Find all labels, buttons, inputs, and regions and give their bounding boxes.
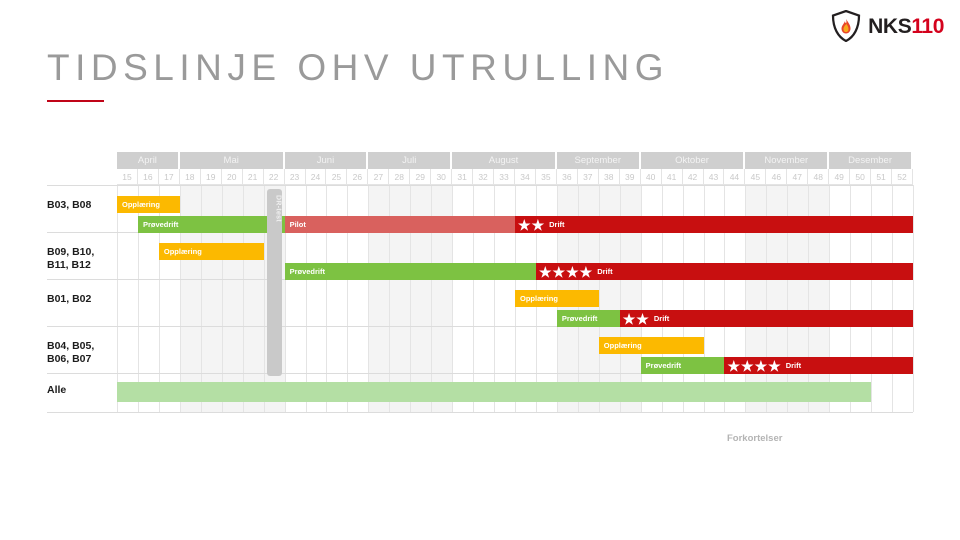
gantt-bar-label: Prøvedrift (641, 361, 681, 370)
gantt-bar-drift[interactable]: ★★Drift (620, 310, 913, 327)
gantt-bar-provedrift[interactable]: Prøvedrift (557, 310, 620, 327)
month-header-november: November (745, 152, 829, 169)
week-number-cell: 19 (201, 169, 222, 185)
row-separator (47, 185, 913, 186)
dr-test-band[interactable]: DR-test (267, 189, 282, 376)
abbreviations-block: Forkortelser (727, 432, 782, 446)
gantt-bar-opplaering[interactable]: Opplæring (599, 337, 704, 354)
week-number-cell: 30 (431, 169, 452, 185)
gantt-bar-drift[interactable]: ★★★★Drift (724, 357, 913, 374)
gantt-bar-label: Drift (781, 361, 801, 370)
gantt-bar-provedrift[interactable]: Prøvedrift (285, 263, 536, 280)
week-number-cell: 16 (138, 169, 159, 185)
row-separator (47, 412, 913, 413)
gantt-bar-label: Opplæring (159, 247, 202, 256)
week-number-cell: 47 (787, 169, 808, 185)
row-label: B09, B10, B11, B12 (47, 246, 94, 272)
week-number-cell: 36 (557, 169, 578, 185)
nks110-logo: NKS110 (831, 10, 944, 42)
week-number-cell: 42 (683, 169, 704, 185)
week-number-cell: 22 (264, 169, 285, 185)
week-number-cell: 21 (243, 169, 264, 185)
month-header-august: August (452, 152, 557, 169)
row-label: B03, B08 (47, 199, 91, 212)
gantt-bar-opplaering[interactable]: Opplæring (515, 290, 599, 307)
week-number-cell: 40 (641, 169, 662, 185)
week-number-cell: 37 (578, 169, 599, 185)
abbreviations-heading: Forkortelser (727, 432, 782, 446)
week-number-cell: 41 (662, 169, 683, 185)
gantt-bar-label: Drift (649, 314, 669, 323)
gantt-bar-provedrift[interactable]: Prøvedrift (641, 357, 725, 374)
gantt-bar-drift[interactable]: ★★★★Drift (536, 263, 913, 280)
gantt-bar-label: Pilot (285, 220, 306, 229)
week-number-cell: 46 (766, 169, 787, 185)
week-number-cell: 52 (892, 169, 913, 185)
week-number-cell: 25 (326, 169, 347, 185)
row-label: Alle (47, 384, 66, 397)
brand-number: 110 (911, 15, 944, 38)
legend (47, 425, 913, 515)
grid-column-line (117, 185, 118, 412)
row-label: B01, B02 (47, 293, 91, 306)
week-number-cell: 49 (829, 169, 850, 185)
month-header-juli: Juli (368, 152, 452, 169)
week-number-cell: 28 (389, 169, 410, 185)
week-number-cell: 24 (306, 169, 327, 185)
week-number-cell: 44 (724, 169, 745, 185)
go-live-star-icon: ★★ (620, 312, 649, 326)
go-live-star-icon: ★★★★ (724, 359, 780, 373)
month-header-row: AprilMaiJuniJuliAugustSeptemberOktoberNo… (117, 152, 913, 169)
week-number-cell: 35 (536, 169, 557, 185)
timeline-gantt-chart: B03, B08B09, B10, B11, B12B01, B02B04, B… (47, 152, 913, 412)
week-number-cell: 17 (159, 169, 180, 185)
go-live-star-icon: ★★ (515, 218, 544, 232)
week-number-cell: 15 (117, 169, 138, 185)
shield-flame-icon (831, 10, 861, 42)
chart-body: OpplæringPrøvedriftPilot★★DriftOpplæring… (117, 185, 913, 412)
gantt-bar-alle[interactable] (117, 382, 871, 402)
gantt-bar-label: Prøvedrift (285, 267, 325, 276)
timeline-grid: AprilMaiJuniJuliAugustSeptemberOktoberNo… (117, 152, 913, 412)
gantt-bar-pilot[interactable]: Pilot (285, 216, 515, 233)
week-number-cell: 32 (473, 169, 494, 185)
gantt-bar-drift[interactable]: ★★Drift (515, 216, 913, 233)
week-number-cell: 23 (285, 169, 306, 185)
month-header-april: April (117, 152, 180, 169)
week-number-cell: 39 (620, 169, 641, 185)
go-live-star-icon: ★★★★ (536, 265, 592, 279)
month-header-mai: Mai (180, 152, 285, 169)
row-label: B04, B05, B06, B07 (47, 340, 94, 366)
week-number-cell: 27 (368, 169, 389, 185)
gantt-bar-label: Prøvedrift (557, 314, 597, 323)
week-number-cell: 29 (410, 169, 431, 185)
week-number-cell: 20 (222, 169, 243, 185)
grid-column-line (913, 185, 914, 412)
week-number-cell: 51 (871, 169, 892, 185)
week-number-cell: 43 (704, 169, 725, 185)
gantt-bar-label: Drift (544, 220, 564, 229)
week-number-cell: 45 (745, 169, 766, 185)
gantt-bar-provedrift[interactable]: Prøvedrift (138, 216, 285, 233)
gantt-bar-label: Opplæring (599, 341, 642, 350)
week-number-cell: 18 (180, 169, 201, 185)
brand-wordmark: NKS110 (868, 16, 944, 37)
gantt-bar-label: Drift (592, 267, 612, 276)
gantt-bar-label: Opplæring (117, 200, 160, 209)
gantt-bar-label: Opplæring (515, 294, 558, 303)
week-number-cell: 38 (599, 169, 620, 185)
week-number-cell: 34 (515, 169, 536, 185)
week-number-cell: 50 (850, 169, 871, 185)
month-header-oktober: Oktober (641, 152, 746, 169)
week-number-cell: 33 (494, 169, 515, 185)
week-number-cell: 48 (808, 169, 829, 185)
gantt-bar-opplaering[interactable]: Opplæring (159, 243, 264, 260)
gantt-bar-opplaering[interactable]: Opplæring (117, 196, 180, 213)
page-title: TIDSLINJE OHV UTRULLING (47, 47, 669, 89)
brand-main: NKS (868, 15, 911, 38)
week-number-row: 1516171819202122232425262728293031323334… (117, 169, 913, 185)
month-header-desember: Desember (829, 152, 913, 169)
week-number-cell: 31 (452, 169, 473, 185)
week-number-cell: 26 (347, 169, 368, 185)
title-underline-rule (47, 100, 104, 102)
month-header-september: September (557, 152, 641, 169)
gantt-bar-label: Prøvedrift (138, 220, 178, 229)
month-header-juni: Juni (285, 152, 369, 169)
